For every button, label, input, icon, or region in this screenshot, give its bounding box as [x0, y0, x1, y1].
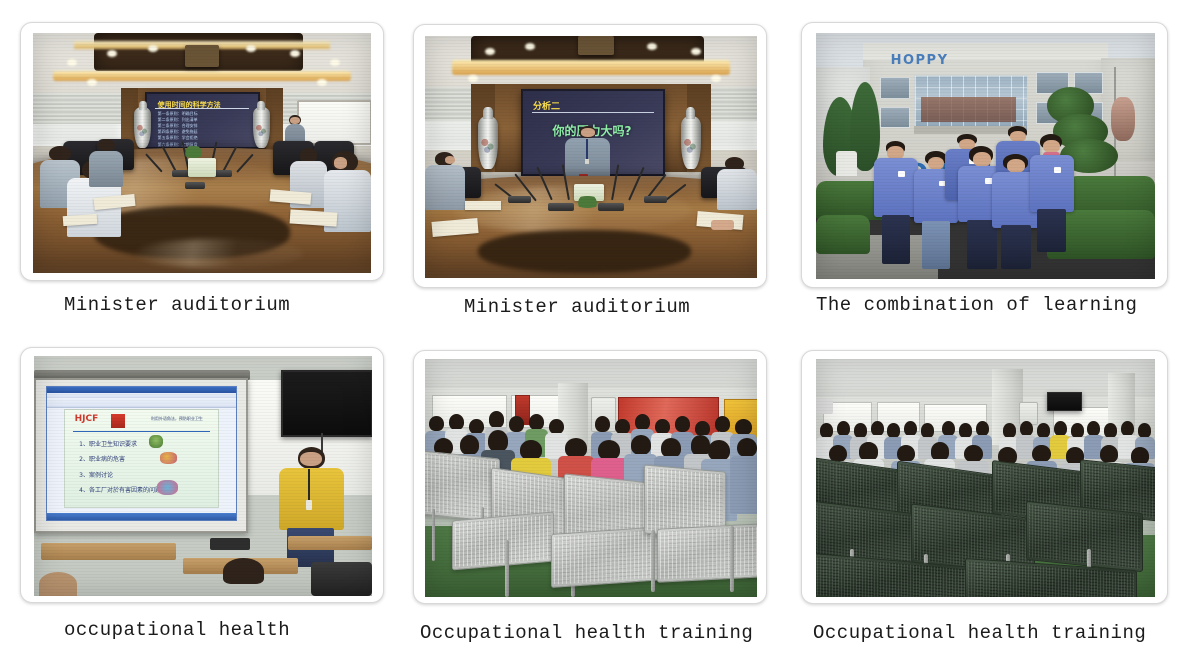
caption-5: Occupational health training: [420, 622, 753, 644]
building-sign: HOPPY: [891, 53, 949, 68]
caption-4: occupational health: [64, 619, 290, 641]
whiteboard-1: [297, 100, 371, 145]
projection-screen-1: 使用时间的科学方法 第一条原则：明确目标第二条原则：列出清单第三条原则：合理安排…: [145, 92, 261, 149]
photo-image-5: [425, 359, 757, 597]
photo-image-4: HJCF 利用外语角法，预防职业卫生 1、职业卫生知识要求 2、职业病的危害 3…: [34, 356, 372, 596]
projection-screen-4: HJCF 利用外语角法，预防职业卫生 1、职业卫生知识要求 2、职业病的危害 3…: [34, 378, 248, 533]
slide-item-4-1: 1、职业卫生知识要求: [79, 439, 137, 448]
photo-image-6: [816, 359, 1155, 597]
caption-1: Minister auditorium: [64, 294, 290, 316]
caption-2: Minister auditorium: [464, 296, 690, 318]
caption-3: The combination of learning: [816, 294, 1137, 316]
bench-row-5-1: [425, 450, 500, 523]
photo-frame-3: HOPPY 璧電 HOPPY: [801, 22, 1168, 288]
slide-item-4-3: 3、案例讨论: [79, 470, 113, 479]
worker-7: [1030, 134, 1074, 252]
photo-gallery: 使用时间的科学方法 第一条原则：明确目标第二条原则：列出清单第三条原则：合理安排…: [0, 0, 1190, 664]
photo-image-1: 使用时间的科学方法 第一条原则：明确目标第二条原则：列出清单第三条原则：合理安排…: [33, 33, 371, 273]
wall-tv-6: [1047, 392, 1083, 411]
worker-1: [874, 141, 918, 264]
slide-header-4: 利用外语角法，预防职业卫生: [151, 416, 203, 422]
photo-frame-5: [413, 350, 767, 604]
wall-tv-4: [281, 370, 372, 436]
photo-frame-1: 使用时间的科学方法 第一条原则：明确目标第二条原则：列出清单第三条原则：合理安排…: [20, 22, 384, 281]
photo-frame-4: HJCF 利用外语角法，预防职业卫生 1、职业卫生知识要求 2、职业病的危害 3…: [20, 347, 384, 603]
photo-image-3: HOPPY 璧電 HOPPY: [816, 33, 1155, 279]
presenter-2: [564, 126, 610, 184]
slide-title-2: 分析二: [533, 99, 560, 112]
caption-6: Occupational health training: [813, 622, 1146, 644]
slide-body-1: 第一条原则：明确目标第二条原则：列出清单第三条原则：合理安排第四条原则：避免拖延…: [158, 111, 198, 148]
photo-frame-2: 分析二 你的压力大吗?: [413, 24, 767, 288]
slide-item-4-2: 2、职业病的危害: [79, 454, 125, 463]
slide-logo-4: HJCF: [75, 414, 99, 424]
photo-frame-6: [801, 350, 1168, 604]
photo-image-2: 分析二 你的压力大吗?: [425, 36, 757, 278]
